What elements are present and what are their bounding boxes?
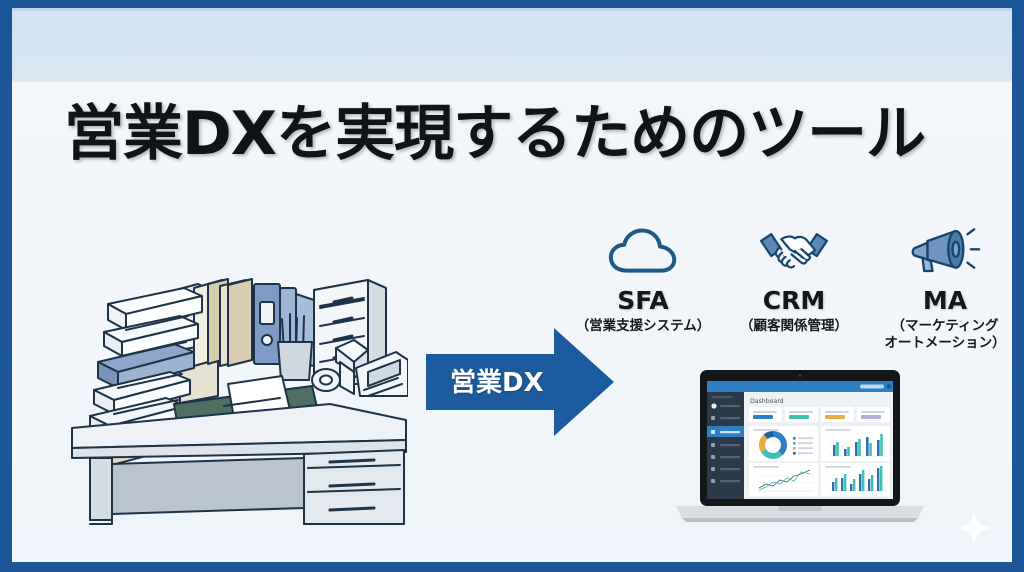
handshake-icon — [719, 220, 869, 282]
tool-name: MA — [870, 288, 1012, 313]
sparkle-icon — [954, 508, 994, 548]
tool-crm[interactable]: CRM （顧客関係管理） — [719, 220, 869, 335]
tools-row: SFA （営業支援システム） — [568, 220, 1012, 370]
bar-chart-top — [821, 426, 890, 461]
cloud-icon — [568, 220, 718, 282]
arrow-label: 営業DX — [450, 370, 570, 396]
tool-subtitle: （営業支援システム） — [568, 318, 718, 335]
donut-chart — [749, 426, 818, 461]
header-band — [12, 8, 1012, 82]
svg-text:Dashboard: Dashboard — [750, 398, 784, 405]
tool-name: CRM — [719, 288, 869, 313]
tool-name: SFA — [568, 288, 718, 313]
slide-canvas: 営業DXを実現するためのツール — [12, 8, 1012, 562]
bar-chart-bottom — [821, 463, 890, 496]
tool-ma[interactable]: MA （マーケティング オートメーション） — [870, 220, 1012, 352]
megaphone-icon — [870, 220, 1012, 282]
laptop-illustration: Dashboard — [674, 370, 926, 532]
page-title: 営業DXを実現するためのツール — [64, 104, 984, 164]
header-band-edge — [12, 8, 1012, 11]
office-desk-illustration — [68, 244, 408, 526]
line-chart — [749, 463, 818, 496]
tool-subtitle: （顧客関係管理） — [719, 318, 869, 335]
tool-subtitle: （マーケティング オートメーション） — [870, 318, 1012, 352]
tool-sfa[interactable]: SFA （営業支援システム） — [568, 220, 718, 335]
slide-frame: 営業DXを実現するためのツール — [0, 0, 1024, 572]
